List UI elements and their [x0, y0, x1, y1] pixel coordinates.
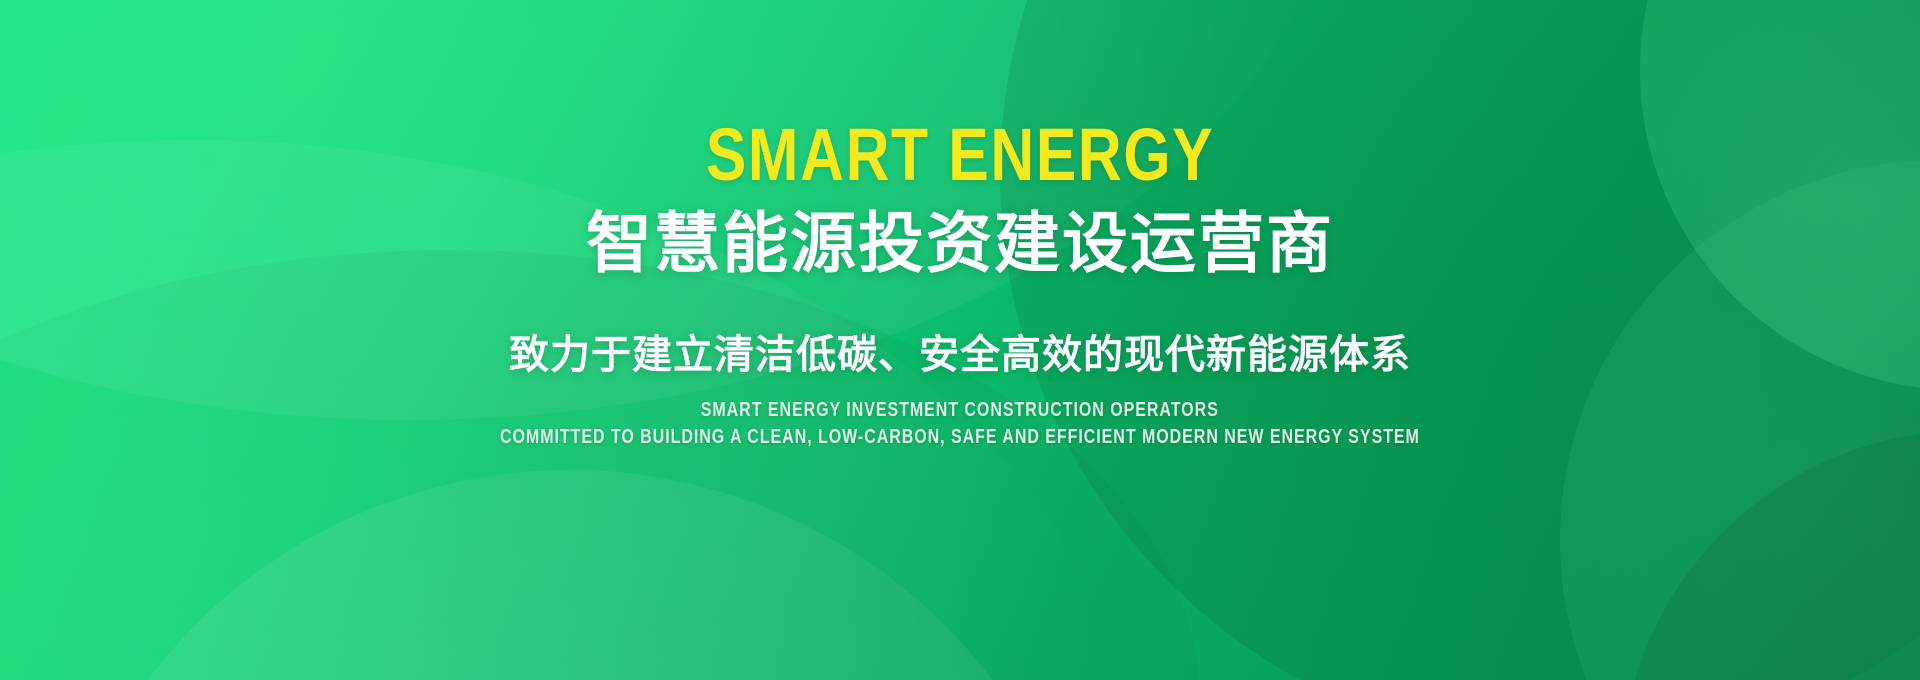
headline-english: SMART ENERGY [706, 118, 1215, 192]
tagline-english-line-1: SMART ENERGY INVESTMENT CONSTRUCTION OPE… [701, 399, 1219, 421]
banner-content: SMART ENERGY 智慧能源投资建设运营商 致力于建立清洁低碳、安全高效的… [0, 0, 1920, 680]
smart-energy-banner: SMART ENERGY 智慧能源投资建设运营商 致力于建立清洁低碳、安全高效的… [0, 0, 1920, 680]
subtitle-chinese: 致力于建立清洁低碳、安全高效的现代新能源体系 [509, 331, 1411, 379]
tagline-english-line-2: COMMITTED TO BUILDING A CLEAN, LOW-CARBO… [500, 426, 1420, 448]
headline-chinese: 智慧能源投资建设运营商 [586, 208, 1334, 279]
tagline-group: SMART ENERGY INVESTMENT CONSTRUCTION OPE… [385, 399, 1535, 448]
